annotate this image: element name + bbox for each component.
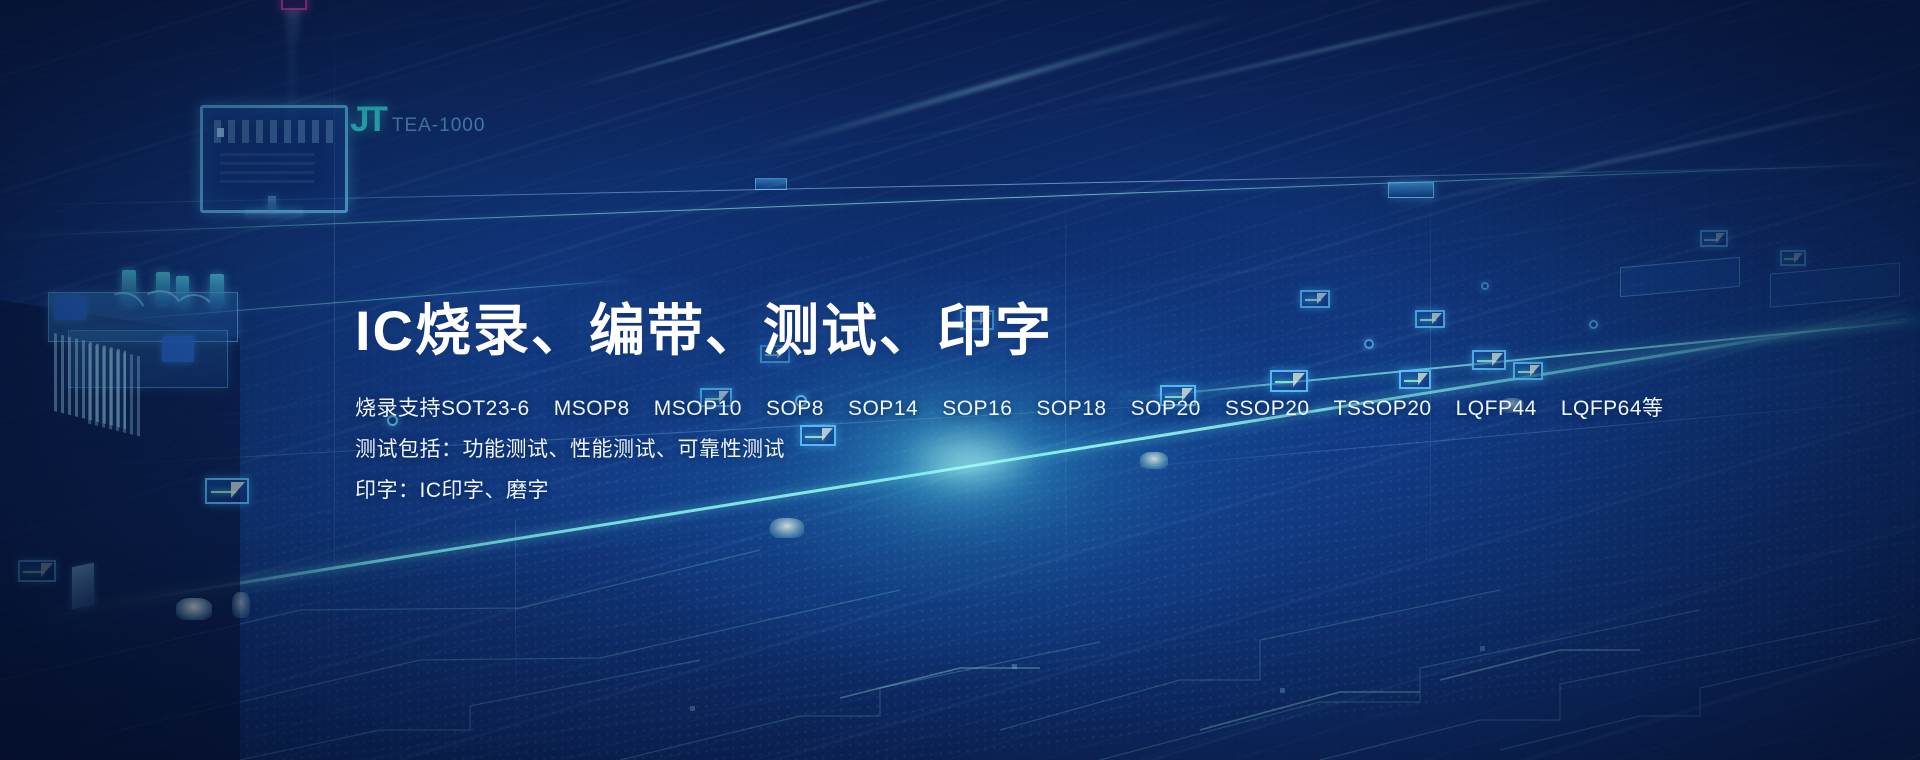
package-label: MSOP10 [654, 389, 742, 430]
ceiling-fixture [755, 178, 787, 190]
pillar-line-4 [515, 520, 516, 760]
package-list: MSOP8MSOP10SOP8SOP14SOP16SOP18SOP20SSOP2… [554, 389, 1664, 430]
machine-cap-left [54, 296, 86, 320]
chip-item [1700, 230, 1728, 247]
burn-support-prefix: 烧录支持SOT23-6 [355, 397, 530, 420]
node-marker [1481, 282, 1489, 290]
rail-mount-bolt [770, 518, 804, 538]
burning-machine-assembly [10, 250, 270, 450]
rail-mount-bolt [176, 598, 212, 620]
package-label: LQFP64等 [1561, 389, 1664, 430]
ceiling-fixture [1388, 182, 1434, 198]
probe-beam-trail [288, 30, 296, 180]
description-line-packages: 烧录支持SOT23-6MSOP8MSOP10SOP8SOP14SOP16SOP1… [355, 389, 1664, 430]
package-label: TSSOP20 [1334, 389, 1432, 430]
package-label: LQFP44 [1456, 389, 1537, 430]
brand-logo: JT TEA-1000 [350, 100, 485, 140]
brand-logo-mark: JT [350, 100, 385, 140]
machine-cylinder-4 [210, 274, 224, 306]
monitor-screen-rows [214, 120, 333, 142]
pillar-line-1 [334, 0, 335, 760]
panel-fragment [72, 563, 94, 610]
monitor-stand-neck [268, 196, 276, 214]
machine-fins-right [88, 344, 140, 437]
description-line-testing: 测试包括：功能测试、性能测试、可靠性测试 [355, 430, 1664, 471]
package-label: MSOP8 [554, 389, 630, 430]
package-label: SOP14 [848, 389, 918, 430]
rail-mount-bolt [232, 592, 250, 618]
description-line-marking: 印字：IC印字、磨字 [355, 471, 1664, 512]
machine-cap-right [162, 336, 194, 362]
equipment-model-label: TEA-1000 [392, 115, 486, 137]
chip-item [205, 478, 249, 504]
hero-banner: JT TEA-1000 [0, 0, 1920, 760]
chip-item [18, 560, 56, 582]
package-label: SOP20 [1131, 389, 1201, 430]
chip-item [1780, 250, 1806, 266]
package-label: SOP8 [766, 389, 824, 430]
package-label: SOP18 [1036, 389, 1106, 430]
page-title: IC烧录、编带、测试、印字 [355, 300, 1664, 363]
package-label: SSOP20 [1225, 389, 1310, 430]
banner-content: IC烧录、编带、测试、印字 烧录支持SOT23-6MSOP8MSOP10SOP8… [355, 300, 1664, 512]
monitor-indicator-dot [217, 128, 224, 137]
banner-description: 烧录支持SOT23-6MSOP8MSOP10SOP8SOP14SOP16SOP1… [355, 389, 1664, 512]
package-label: SOP16 [942, 389, 1012, 430]
monitor-screen-detail [220, 153, 314, 184]
probe-head-icon [281, 0, 307, 10]
